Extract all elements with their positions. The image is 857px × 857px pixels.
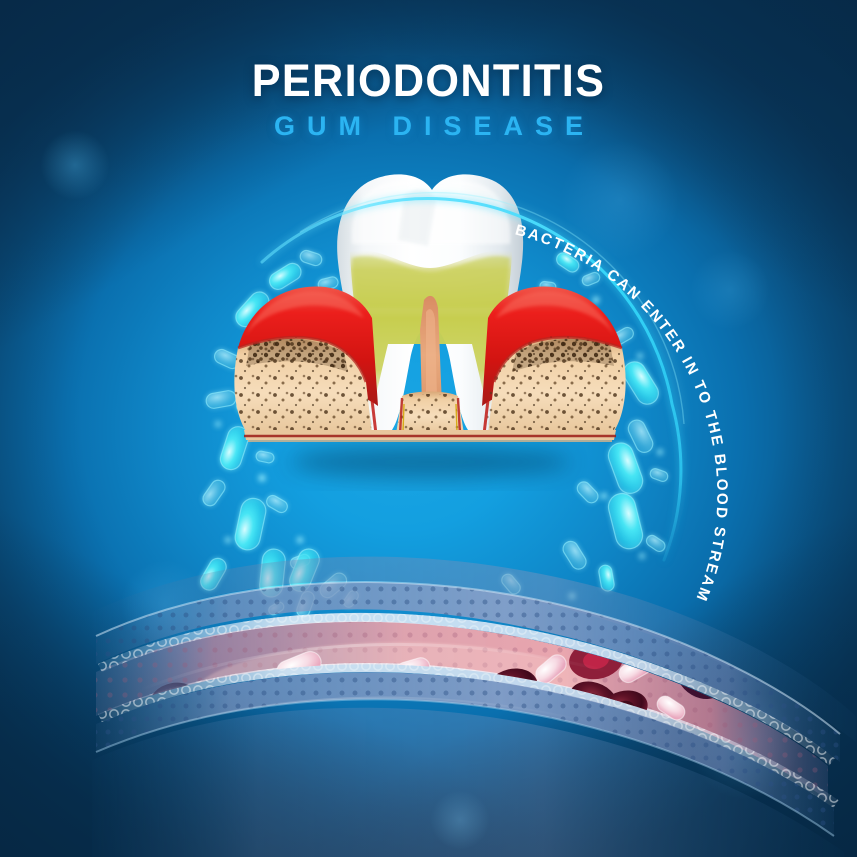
arc-caption: BACTERIA CAN ENTER IN TO THE BLOOD STREA…	[513, 222, 730, 605]
illustration-stage: BACTERIA CAN ENTER IN TO THE BLOOD STREA…	[0, 0, 857, 857]
ring-arc-line	[262, 193, 684, 560]
periodontitis-infographic: PERIODONTITIS GUM DISEASE	[0, 0, 857, 857]
arc-caption-text: BACTERIA CAN ENTER IN TO THE BLOOD STREA…	[513, 222, 730, 605]
bacteria-arc-ring: BACTERIA CAN ENTER IN TO THE BLOOD STREA…	[0, 0, 857, 857]
